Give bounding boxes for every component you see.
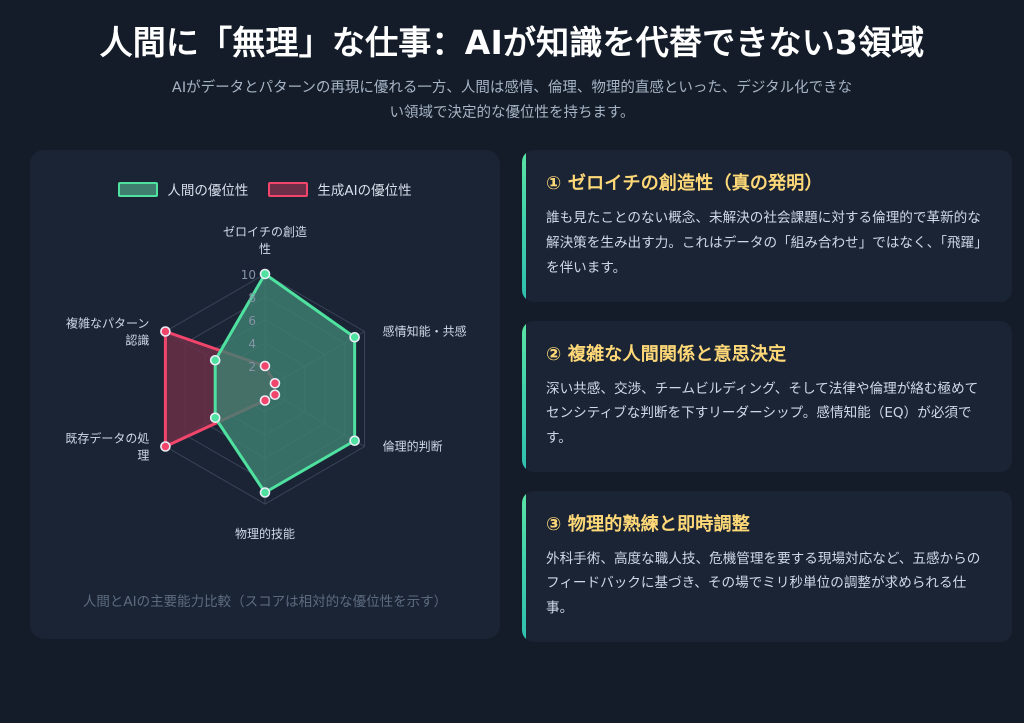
radar-data-point — [261, 270, 270, 279]
card-body: 外科手術、高度な職人技、危機管理を要する現場対応など、五感からのフィードバックに… — [546, 547, 988, 621]
legend-item-ai: 生成AIの優位性 — [268, 179, 411, 199]
radar-axis-label: 認識 — [125, 333, 149, 348]
radar-tick-label: 2 — [248, 360, 256, 374]
radar-data-point — [161, 442, 170, 451]
legend-swatch-ai-icon — [268, 182, 308, 197]
radar-data-point — [211, 356, 220, 365]
radar-axis-label: 複雑なパターン — [66, 316, 149, 331]
radar-axis-label: 感情知能・共感 — [383, 324, 467, 339]
radar-tick-label: 8 — [248, 291, 256, 305]
radar-axis-label: 物理的技能 — [235, 526, 295, 541]
card-item: ① ゼロイチの創造性（真の発明） 誰も見たことのない概念、未解決の社会課題に対す… — [522, 150, 1012, 301]
radar-chart-panel: 人間の優位性 生成AIの優位性 246810ゼロイチの創造性感情知能・共感倫理的… — [30, 150, 500, 639]
card-accent-bar — [522, 150, 526, 301]
radar-tick-label: 4 — [248, 337, 256, 351]
page-subtitle: AIがデータとパターンの再現に優れる一方、人間は感情、倫理、物理的直感といった、… — [167, 76, 857, 127]
page-title: 人間に「無理」な仕事：AIが知識を代替できない3領域 — [60, 22, 964, 64]
radar-plot: 246810ゼロイチの創造性感情知能・共感倫理的判断物理的技能既存データの処理複… — [30, 199, 500, 559]
radar-data-point — [350, 437, 359, 446]
radar-data-point — [270, 391, 279, 400]
radar-data-point — [261, 362, 270, 371]
legend-swatch-human-icon — [118, 182, 158, 197]
legend-label-human: 人間の優位性 — [167, 179, 248, 199]
card-item: ② 複雑な人間関係と意思決定 深い共感、交渉、チームビルディング、そして法律や倫… — [522, 321, 1012, 472]
card-accent-bar — [522, 491, 526, 642]
infographic-page: 人間に「無理」な仕事：AIが知識を代替できない3領域 AIがデータとパターンの再… — [0, 0, 1024, 723]
radar-chart-svg: 246810ゼロイチの創造性感情知能・共感倫理的判断物理的技能既存データの処理複… — [30, 199, 500, 559]
radar-data-point — [270, 379, 279, 388]
card-item: ③ 物理的熟練と即時調整 外科手術、高度な職人技、危機管理を要する現場対応など、… — [522, 491, 1012, 642]
content-area: 人間の優位性 生成AIの優位性 246810ゼロイチの創造性感情知能・共感倫理的… — [0, 126, 1024, 642]
radar-data-point — [261, 488, 270, 497]
legend-label-ai: 生成AIの優位性 — [317, 179, 411, 199]
radar-data-point — [261, 396, 270, 405]
header: 人間に「無理」な仕事：AIが知識を代替できない3領域 AIがデータとパターンの再… — [0, 0, 1024, 126]
radar-axis-label: 理 — [137, 449, 149, 463]
radar-series-human — [215, 274, 354, 493]
radar-axis-label: 性 — [259, 242, 271, 256]
radar-axis-label: 既存データの処 — [65, 431, 149, 446]
chart-legend: 人間の優位性 生成AIの優位性 — [30, 150, 500, 199]
radar-data-point — [211, 414, 220, 423]
radar-axis-label: 倫理的判断 — [383, 439, 443, 454]
card-title: ③ 物理的熟練と即時調整 — [546, 510, 988, 536]
card-accent-bar — [522, 321, 526, 472]
radar-axis-label: ゼロイチの創造 — [223, 225, 307, 239]
radar-tick-label: 6 — [248, 314, 256, 328]
card-title: ① ゼロイチの創造性（真の発明） — [546, 169, 988, 195]
radar-tick-label: 10 — [241, 268, 256, 282]
cards-column: ① ゼロイチの創造性（真の発明） 誰も見たことのない概念、未解決の社会課題に対す… — [522, 150, 1012, 642]
radar-data-point — [350, 333, 359, 342]
legend-item-human: 人間の優位性 — [118, 179, 248, 199]
chart-caption: 人間とAIの主要能力比較（スコアは相対的な優位性を示す） — [30, 590, 500, 610]
radar-data-point — [161, 327, 170, 336]
card-body: 誰も見たことのない概念、未解決の社会課題に対する倫理的で革新的な解決策を生み出す… — [546, 206, 988, 280]
card-title: ② 複雑な人間関係と意思決定 — [546, 340, 988, 366]
card-body: 深い共感、交渉、チームビルディング、そして法律や倫理が絡む極めてセンシティブな判… — [546, 377, 988, 451]
